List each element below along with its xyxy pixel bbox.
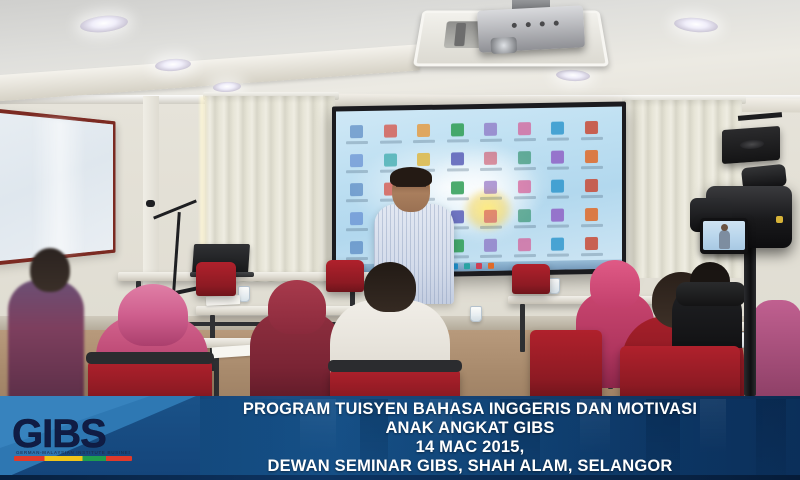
desktop-icon <box>384 153 397 166</box>
chair-frame <box>328 360 462 372</box>
gibs-logo: GIBS GERMAN-MALAYSIAN INSTITUTE BUSINESS… <box>12 414 136 464</box>
desktop-icon-label <box>547 224 569 227</box>
desktop-icon <box>350 183 363 196</box>
desktop-icon-label <box>480 139 502 142</box>
desktop-icon <box>350 125 363 138</box>
desktop-icon <box>518 180 531 193</box>
desktop-icon <box>484 239 497 252</box>
desktop-icon-label <box>346 141 368 144</box>
desktop-icon <box>350 241 363 254</box>
banner-line-3: 14 MAC 2015, <box>416 438 525 457</box>
taskbar-icon <box>476 263 482 269</box>
desktop-icon <box>518 209 531 222</box>
camera-lcd-screen <box>700 218 748 254</box>
desktop-icon-label <box>547 253 569 256</box>
banner-line-4: DEWAN SEMINAR GIBS, SHAH ALAM, SELANGOR <box>267 457 672 476</box>
water-cup <box>470 306 482 322</box>
desktop-icon <box>585 208 598 221</box>
event-photo-screenshot: GIBS GERMAN-MALAYSIAN INSTITUTE BUSINESS… <box>0 0 800 480</box>
desktop-icon <box>585 150 598 163</box>
whiteboard <box>0 108 116 266</box>
desktop-icon <box>451 123 464 136</box>
desktop-icon-label <box>514 167 536 170</box>
desktop-icon-label <box>346 170 368 173</box>
desktop-icon <box>551 209 564 222</box>
desktop-icon-label <box>581 195 603 198</box>
desktop-icon-label <box>581 253 603 256</box>
desktop-icon-label <box>514 254 536 257</box>
logo-color-rule <box>14 456 132 461</box>
desktop-icon-label <box>346 228 368 231</box>
projector-icon <box>477 5 585 52</box>
desktop-icon-label <box>480 226 502 229</box>
banner-line-1: PROGRAM TUISYEN BAHASA INGGERIS DAN MOTI… <box>243 400 697 419</box>
desktop-icon-label <box>480 197 502 200</box>
wall-edge <box>143 96 159 286</box>
desktop-icon <box>551 238 564 251</box>
taskbar-icon <box>488 263 494 269</box>
desktop-icon <box>451 181 464 194</box>
desktop-icon-label <box>447 139 469 142</box>
camera-bag <box>676 282 746 306</box>
desktop-icon-label <box>547 166 569 169</box>
paper-sheet <box>206 295 240 306</box>
desktop-icon-label <box>480 255 502 258</box>
chair <box>326 260 364 292</box>
taskbar-icon <box>464 263 470 269</box>
desktop-icon <box>518 122 531 135</box>
desktop-icon <box>518 151 531 164</box>
wall-speaker-icon <box>722 126 780 164</box>
desktop-icon-label <box>346 199 368 202</box>
desktop-icon-label <box>447 197 469 200</box>
chair <box>530 330 602 400</box>
desktop-icon <box>484 210 497 223</box>
tripod <box>744 246 756 396</box>
chair <box>512 264 550 294</box>
desktop-icon-label <box>514 225 536 228</box>
desktop-icon-label <box>581 224 603 227</box>
desktop-icon-label <box>480 168 502 171</box>
desktop-icon <box>417 153 430 166</box>
desktop-icon <box>585 121 598 134</box>
eyeglasses-icon <box>396 186 426 193</box>
desktop-icon <box>451 152 464 165</box>
desktop-icon-label <box>581 166 603 169</box>
desktop-icon-label <box>514 196 536 199</box>
camera-indicator <box>776 216 783 223</box>
desktop-icon <box>384 124 397 137</box>
desktop-icon-label <box>581 137 603 140</box>
chair <box>620 346 740 402</box>
banner-bottom-rule <box>0 475 800 480</box>
desktop-icon-label <box>447 168 469 171</box>
desktop-icon <box>484 123 497 136</box>
desktop-icon-label <box>547 195 569 198</box>
desktop-icon <box>585 179 598 192</box>
logo-wordmark: GIBS <box>12 414 136 454</box>
desktop-icon <box>585 237 598 250</box>
chair <box>196 262 236 296</box>
desktop-icon <box>551 180 564 193</box>
desktop-icon <box>484 152 497 165</box>
desktop-icon-label <box>380 140 402 143</box>
desktop-icon <box>551 151 564 164</box>
desktop-icon <box>417 124 430 137</box>
desktop-icon <box>350 212 363 225</box>
title-banner: GIBS GERMAN-MALAYSIAN INSTITUTE BUSINESS… <box>0 396 800 480</box>
banner-line-2: ANAK ANGKAT GIBS <box>385 419 554 438</box>
desktop-icon-label <box>413 140 435 143</box>
desktop-icon <box>518 238 531 251</box>
speaker-hair <box>390 167 432 187</box>
desktop-icon-label <box>514 138 536 141</box>
desktop-icon <box>350 154 363 167</box>
chair-frame <box>86 352 214 364</box>
desktop-icon <box>484 181 497 194</box>
microphone-icon <box>146 200 155 207</box>
banner-text-block: PROGRAM TUISYEN BAHASA INGGERIS DAN MOTI… <box>150 398 790 478</box>
desktop-icon <box>551 122 564 135</box>
desktop-icon-label <box>547 137 569 140</box>
